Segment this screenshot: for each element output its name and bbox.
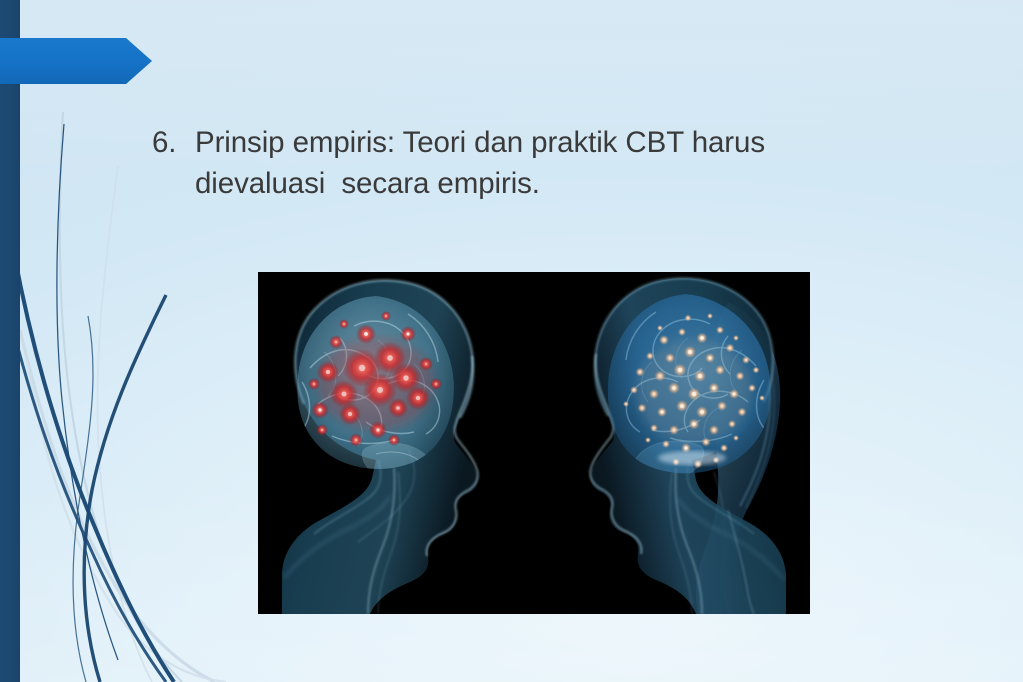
two-heads-brain-activity-xray-image xyxy=(258,272,810,614)
list-item: 6. Prinsip empiris: Teori dan praktik CB… xyxy=(152,122,882,205)
list-item-marker: 6. xyxy=(152,122,195,163)
blue-arrow-banner xyxy=(0,38,152,84)
slide-body-text: 6. Prinsip empiris: Teori dan praktik CB… xyxy=(152,122,882,205)
list-item-text: Prinsip empiris: Teori dan praktik CBT h… xyxy=(195,122,882,205)
slide-canvas: 6. Prinsip empiris: Teori dan praktik CB… xyxy=(0,0,1023,682)
left-navy-edge-stripe xyxy=(0,0,20,682)
decorative-swoosh-lines xyxy=(0,0,300,682)
